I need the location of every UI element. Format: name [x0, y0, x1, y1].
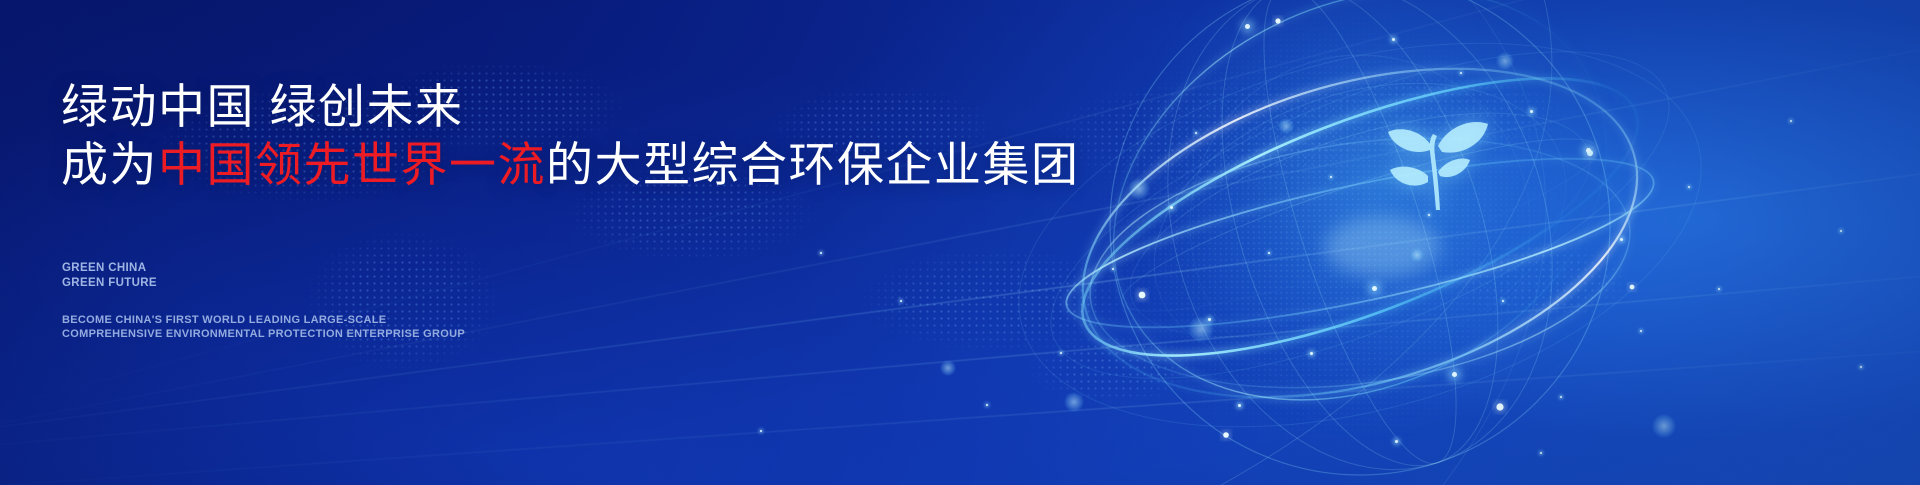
banner-copy: 绿动中国 绿创未来 成为中国领先世界一流的大型综合环保企业集团 GREEN CH… — [61, 0, 1061, 485]
tagline: GREEN CHINA GREEN FUTURE — [62, 261, 157, 290]
subline-line-2: COMPREHENSIVE ENVIRONMENTAL PROTECTION E… — [62, 327, 465, 341]
tagline-line-1: GREEN CHINA — [62, 261, 157, 276]
tagline-line-2: GREEN FUTURE — [62, 276, 157, 291]
subline-line-1: BECOME CHINA'S FIRST WORLD LEADING LARGE… — [62, 313, 465, 327]
headline: 绿动中国 绿创未来 成为中国领先世界一流的大型综合环保企业集团 — [61, 78, 1080, 194]
headline-line-2-suffix: 的大型综合环保企业集团 — [546, 138, 1080, 191]
headline-line-2: 成为中国领先世界一流的大型综合环保企业集团 — [61, 136, 1080, 194]
hero-banner: 绿动中国 绿创未来 成为中国领先世界一流的大型综合环保企业集团 GREEN CH… — [0, 0, 1920, 485]
headline-line-2-highlight: 中国领先世界一流 — [158, 138, 546, 191]
headline-line-2-prefix: 成为 — [61, 138, 158, 191]
headline-line-1: 绿动中国 绿创未来 — [61, 80, 464, 133]
subline: BECOME CHINA'S FIRST WORLD LEADING LARGE… — [62, 313, 465, 341]
